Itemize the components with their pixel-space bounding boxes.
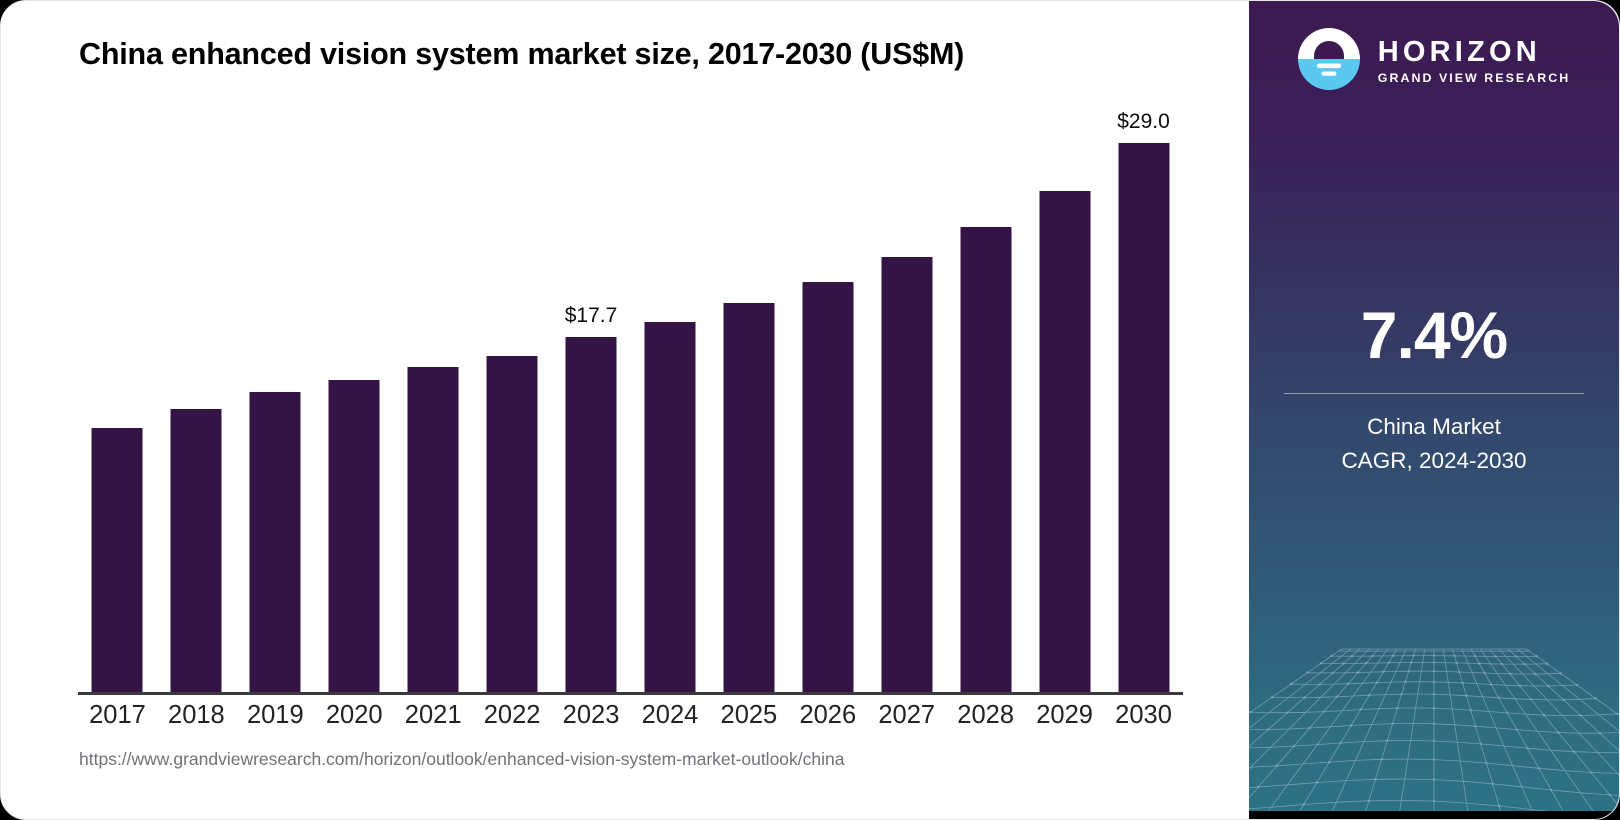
bar-value-label: $29.0 <box>1117 110 1170 134</box>
x-axis-tick-label: 2022 <box>467 701 557 730</box>
cagr-block: 7.4% China Market CAGR, 2024-2030 <box>1249 301 1619 477</box>
wireframe-mesh-graphic <box>1249 631 1619 820</box>
bar-slot <box>315 96 394 693</box>
bar-slot <box>78 96 157 693</box>
x-axis-line <box>78 692 1183 695</box>
bar-value-label: $17.7 <box>565 304 618 328</box>
cagr-caption-line1: China Market <box>1249 410 1619 444</box>
bar-slot <box>236 96 315 693</box>
bar-slot <box>946 96 1025 693</box>
page-title: China enhanced vision system market size… <box>79 37 964 72</box>
bar-chart-plot-area: $17.7$29.0 <box>78 96 1183 693</box>
chart-bar[interactable] <box>171 409 222 693</box>
brand-tagline: GRAND VIEW RESEARCH <box>1378 72 1570 84</box>
x-axis-tick-label: 2030 <box>1099 701 1189 730</box>
brand-header: HORIZON GRAND VIEW RESEARCH <box>1249 23 1619 99</box>
x-axis-tick-label: 2025 <box>704 701 794 730</box>
chart-panel: China enhanced vision system market size… <box>1 1 1251 820</box>
infographic-card: China enhanced vision system market size… <box>0 0 1620 820</box>
x-axis-tick-label: 2020 <box>309 701 399 730</box>
brand-sidebar: HORIZON GRAND VIEW RESEARCH 7.4% China M… <box>1249 1 1619 820</box>
bar-slot <box>473 96 552 693</box>
chart-bar[interactable] <box>1118 143 1169 693</box>
bar-slot: $17.7 <box>552 96 631 693</box>
source-url-text: https://www.grandviewresearch.com/horizo… <box>79 749 845 770</box>
chart-bar[interactable] <box>960 227 1011 693</box>
x-axis-tick-label: 2026 <box>783 701 873 730</box>
divider <box>1284 393 1584 394</box>
cagr-value: 7.4% <box>1249 301 1619 371</box>
bar-slot <box>1025 96 1104 693</box>
footer-strip <box>1249 811 1619 820</box>
x-axis-tick-label: 2018 <box>151 701 241 730</box>
bar-slot <box>631 96 710 693</box>
chart-bar[interactable] <box>1039 191 1090 693</box>
chart-bar[interactable] <box>644 322 695 693</box>
bar-slot <box>157 96 236 693</box>
bar-slot: $29.0 <box>1104 96 1183 693</box>
x-axis-tick-label: 2019 <box>230 701 320 730</box>
bar-slot <box>709 96 788 693</box>
brand-name: HORIZON <box>1378 38 1570 67</box>
bar-slot <box>867 96 946 693</box>
bar-slot <box>788 96 867 693</box>
horizon-sunrise-circle-icon <box>1298 28 1360 95</box>
x-axis-tick-label: 2029 <box>1020 701 1110 730</box>
chart-bar[interactable] <box>250 392 301 693</box>
x-axis-tick-label: 2021 <box>388 701 478 730</box>
chart-bar[interactable] <box>487 356 538 693</box>
chart-bar[interactable] <box>802 282 853 693</box>
chart-bar[interactable] <box>566 337 617 693</box>
chart-bar[interactable] <box>329 380 380 693</box>
x-axis-tick-label: 2023 <box>546 701 636 730</box>
chart-bar[interactable] <box>92 428 143 693</box>
cagr-caption-line2: CAGR, 2024-2030 <box>1249 444 1619 478</box>
x-axis-tick-label: 2028 <box>941 701 1031 730</box>
chart-bar[interactable] <box>723 303 774 693</box>
x-axis-tick-label: 2027 <box>862 701 952 730</box>
bar-slot <box>394 96 473 693</box>
brand-wordmark: HORIZON GRAND VIEW RESEARCH <box>1378 38 1570 84</box>
chart-bar[interactable] <box>408 367 459 693</box>
x-axis-tick-label: 2017 <box>72 701 162 730</box>
x-axis-tick-label: 2024 <box>625 701 715 730</box>
chart-bar[interactable] <box>881 257 932 693</box>
